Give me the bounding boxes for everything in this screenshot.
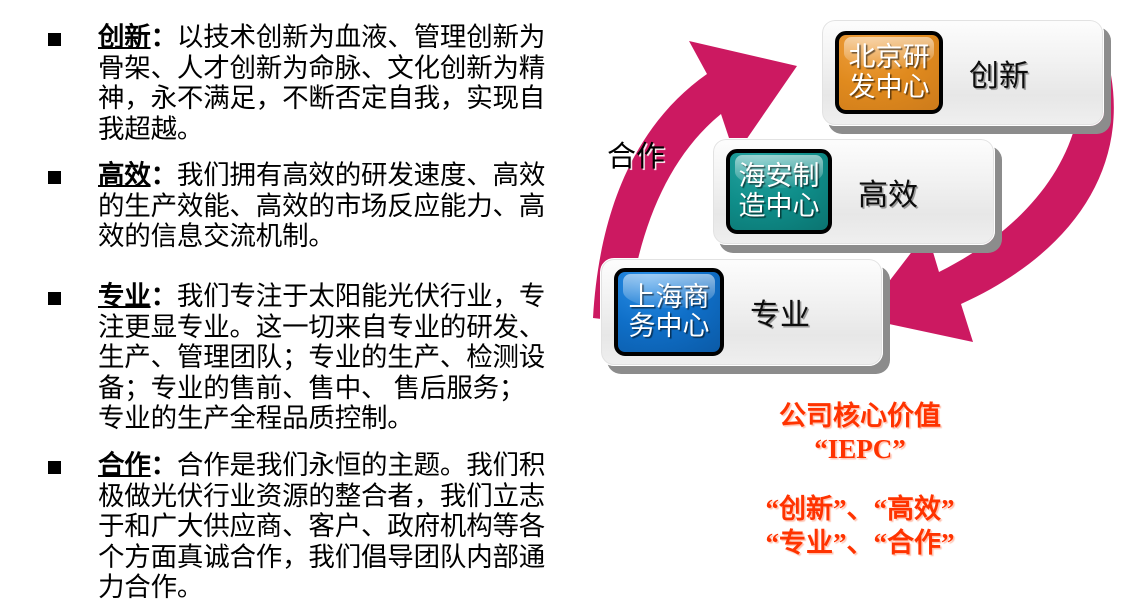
slide-canvas: 创新：以技术创新为血液、管理创新为 骨架、人才创新为命脉、文化创新为精 神，永不… — [0, 0, 1127, 607]
chip-line-1: 海安制 — [739, 162, 820, 191]
square-bullet-icon — [48, 33, 61, 46]
bullet-colon: ： — [151, 160, 177, 190]
caption-spacer — [695, 466, 1025, 493]
square-bullet-icon — [48, 461, 61, 474]
bullet-title: 高效 — [98, 160, 151, 190]
caption-line-1: 公司核心价值 — [695, 400, 1025, 433]
card-label-professional: 专业 — [750, 290, 810, 334]
bullet-colon: ： — [151, 450, 177, 480]
bullet-title: 创新 — [98, 22, 151, 52]
chip-line-2: 务中心 — [629, 312, 710, 341]
list-item: 专业：我们专注于太阳能光伏行业，专 注更显专业。这一切来自专业的研发、 生产、管… — [48, 281, 593, 434]
card-label-efficiency: 高效 — [858, 170, 918, 214]
chip-line-1: 上海商 — [629, 283, 710, 312]
square-bullet-icon — [48, 292, 61, 305]
caption-line-3: “创新”、“高效” — [695, 493, 1025, 526]
bullet-body: 合作：合作是我们永恒的主题。我们积 极做光伏行业资源的整合者，我们立志 于和广大… — [98, 450, 545, 603]
caption-line-2: “IEPC” — [695, 433, 1025, 466]
chip-line-2: 发中心 — [849, 73, 930, 102]
bullet-colon: ： — [151, 281, 177, 311]
bullet-title: 合作 — [98, 450, 151, 480]
card-professional[interactable]: 上海商 务中心 专业 — [600, 258, 883, 366]
chip-beijing-rd-center: 北京研 发中心 — [835, 31, 943, 114]
list-item: 合作：合作是我们永恒的主题。我们积 极做光伏行业资源的整合者，我们立志 于和广大… — [48, 450, 593, 603]
square-bullet-icon — [48, 171, 61, 184]
bullet-body: 高效：我们拥有高效的研发速度、高效 的生产效能、高效的市场反应能力、高 效的信息… — [98, 160, 545, 252]
bullet-title: 专业 — [98, 281, 151, 311]
chip-line-1: 北京研 — [849, 43, 930, 72]
value-diagram: 合作 北京研 发中心 创新 海安制 造中心 高效 上海商 务中心 专业 公司核心… — [575, 0, 1127, 607]
bullet-body: 专业：我们专注于太阳能光伏行业，专 注更显专业。这一切来自专业的研发、 生产、管… — [98, 281, 545, 434]
core-values-caption: 公司核心价值 “IEPC” “创新”、“高效” “专业”、“合作” — [695, 400, 1025, 560]
bullet-colon: ： — [151, 22, 177, 52]
chip-line-2: 造中心 — [739, 192, 820, 221]
caption-line-4: “专业”、“合作” — [695, 527, 1025, 560]
card-innovation[interactable]: 北京研 发中心 创新 — [821, 19, 1104, 126]
chip-haian-manufacturing-center: 海安制 造中心 — [726, 149, 832, 234]
card-efficiency[interactable]: 海安制 造中心 高效 — [712, 138, 995, 245]
bullet-list: 创新：以技术创新为血液、管理创新为 骨架、人才创新为命脉、文化创新为精 神，永不… — [0, 0, 600, 607]
bullet-body: 创新：以技术创新为血液、管理创新为 骨架、人才创新为命脉、文化创新为精 神，永不… — [98, 22, 545, 144]
list-item: 高效：我们拥有高效的研发速度、高效 的生产效能、高效的市场反应能力、高 效的信息… — [48, 160, 593, 252]
chip-shanghai-business-center: 上海商 务中心 — [614, 268, 724, 356]
card-label-innovation: 创新 — [969, 51, 1029, 95]
arrow-label-cooperation: 合作 — [607, 133, 665, 175]
list-item: 创新：以技术创新为血液、管理创新为 骨架、人才创新为命脉、文化创新为精 神，永不… — [48, 22, 593, 144]
